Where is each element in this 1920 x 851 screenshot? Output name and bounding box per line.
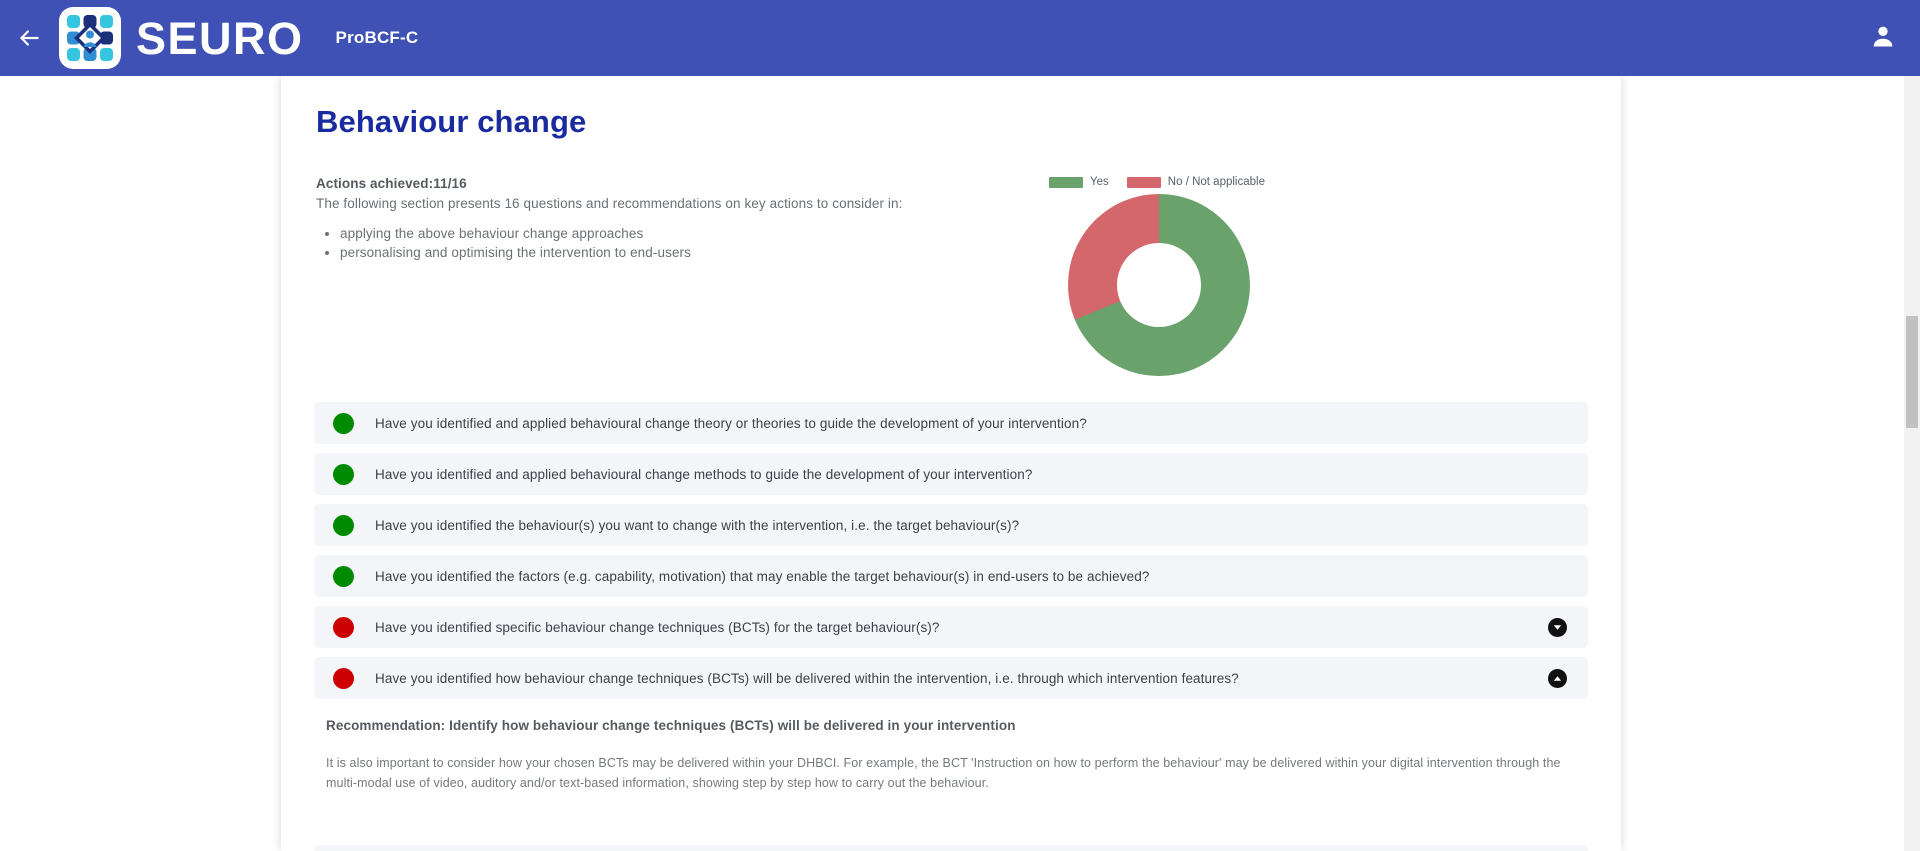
legend-item-no[interactable]: No / Not applicable — [1127, 176, 1265, 188]
legend-item-yes[interactable]: Yes — [1049, 176, 1109, 188]
legend-label-yes: Yes — [1090, 176, 1109, 188]
actions-achieved-label: Actions achieved:11/16 — [316, 176, 916, 191]
intro-description: The following section presents 16 questi… — [316, 196, 916, 211]
page-scrollbar-thumb[interactable] — [1906, 316, 1918, 428]
page-title: Behaviour change — [281, 76, 1621, 140]
question-row[interactable]: Have you identified and applied behaviou… — [314, 402, 1588, 444]
legend-swatch-no — [1127, 177, 1161, 188]
status-dot-yes — [333, 464, 354, 485]
arrow-left-icon — [16, 25, 42, 51]
legend-label-no: No / Not applicable — [1168, 176, 1265, 188]
project-code: ProBCF-C — [336, 28, 419, 48]
chevron-up-icon[interactable] — [1548, 669, 1567, 688]
person-icon — [1869, 22, 1897, 55]
chevron-down-icon[interactable] — [1548, 618, 1567, 637]
question-list-continued: Have you selected key behaviour change o… — [281, 845, 1621, 851]
recommendation-body: It is also important to consider how you… — [326, 753, 1586, 793]
legend-swatch-yes — [1049, 177, 1083, 188]
status-dot-yes — [333, 413, 354, 434]
status-dot-no — [333, 617, 354, 638]
question-text: Have you identified and applied behaviou… — [375, 467, 1574, 482]
back-button[interactable] — [6, 15, 52, 61]
question-text: Have you identified how behaviour change… — [375, 671, 1548, 686]
account-button[interactable] — [1866, 21, 1900, 55]
spacer — [281, 797, 1621, 819]
question-text: Have you identified specific behaviour c… — [375, 620, 1548, 635]
question-text: Have you identified and applied behaviou… — [375, 416, 1574, 431]
question-row[interactable]: Have you identified how behaviour change… — [314, 657, 1588, 699]
intro-and-chart-row: Actions achieved:11/16 The following sec… — [281, 140, 1621, 376]
question-row[interactable]: Have you identified and applied behaviou… — [314, 453, 1588, 495]
intro-bullet-list: applying the above behaviour change appr… — [316, 225, 916, 262]
status-dot-yes — [333, 566, 354, 587]
page-scrollbar-track[interactable] — [1904, 76, 1920, 851]
question-row[interactable]: Have you identified the factors (e.g. ca… — [314, 555, 1588, 597]
list-item: personalising and optimising the interve… — [340, 244, 916, 263]
status-dot-yes — [333, 515, 354, 536]
donut-graphic — [1068, 194, 1250, 376]
app-header: SEURO ProBCF-C — [0, 0, 1920, 76]
question-text: Have you identified the behaviour(s) you… — [375, 518, 1574, 533]
recommendation-title: Recommendation: Identify how behaviour c… — [326, 718, 1588, 733]
question-row[interactable]: Have you selected key behaviour change o… — [314, 845, 1588, 851]
question-list: Have you identified and applied behaviou… — [281, 402, 1621, 699]
status-dot-no — [333, 668, 354, 689]
question-row[interactable]: Have you identified specific behaviour c… — [314, 606, 1588, 648]
recommendation-panel: Recommendation: Identify how behaviour c… — [281, 708, 1621, 797]
intro-text-block: Actions achieved:11/16 The following sec… — [316, 176, 916, 376]
content-card: Behaviour change Actions achieved:11/16 … — [281, 76, 1621, 851]
chart-legend: Yes No / Not applicable — [1030, 176, 1284, 188]
seuro-logo-icon — [59, 7, 121, 69]
list-item: applying the above behaviour change appr… — [340, 225, 916, 244]
donut-center-hole — [1117, 243, 1201, 327]
question-row[interactable]: Have you identified the behaviour(s) you… — [314, 504, 1588, 546]
completion-donut-chart: Yes No / Not applicable — [1034, 176, 1284, 376]
question-text: Have you identified the factors (e.g. ca… — [375, 569, 1574, 584]
brand-name: SEURO — [136, 16, 304, 61]
